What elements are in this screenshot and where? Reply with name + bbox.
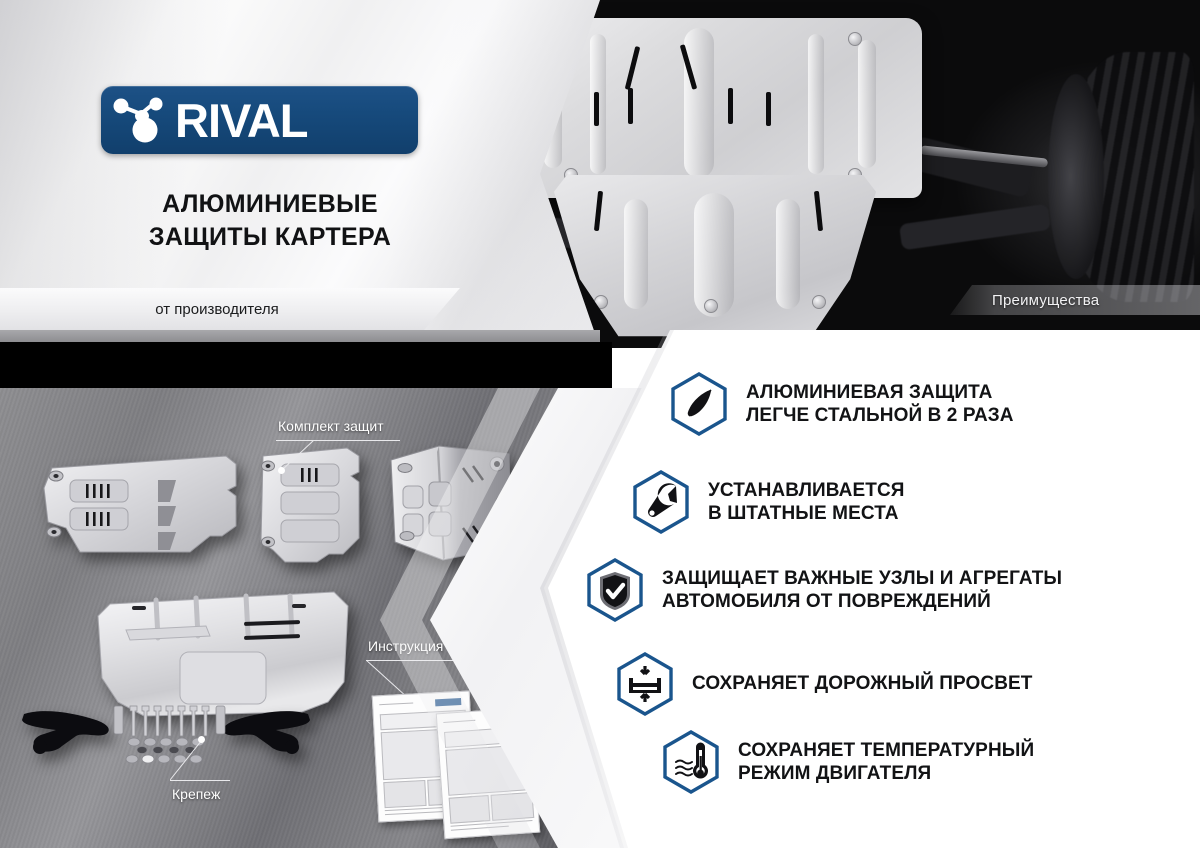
wrench-icon	[632, 470, 690, 534]
advantages-ribbon: Преимущества	[950, 285, 1200, 315]
molecule-icon	[111, 94, 177, 146]
feature-item-3: ЗАЩИЩАЕТ ВАЖНЫЕ УЗЛЫ И АГРЕГАТЫ АВТОМОБИ…	[586, 558, 1062, 622]
feature-item-2: УСТАНАВЛИВАЕТСЯ В ШТАТНЫЕ МЕСТА	[632, 470, 905, 534]
skid-plate-main	[96, 590, 350, 718]
page-title-line1: АЛЮМИНИЕВЫЕ	[60, 188, 480, 221]
feature-text-4: СОХРАНЯЕТ ДОРОЖНЫЙ ПРОСВЕТ	[692, 672, 1033, 695]
feature-text-1: АЛЮМИНИЕВАЯ ЗАЩИТА ЛЕГЧЕ СТАЛЬНОЙ В 2 РА…	[746, 381, 1014, 427]
advantages-ribbon-label: Преимущества	[950, 292, 1099, 309]
mounting-bracket-left	[18, 706, 116, 760]
subtitle-text: от производителя	[155, 301, 304, 318]
feature-text-3: ЗАЩИЩАЕТ ВАЖНЫЕ УЗЛЫ И АГРЕГАТЫ АВТОМОБИ…	[662, 567, 1062, 613]
promo-banner: Преимущества RIVAL АЛЮМИНИЕВЫЕ ЗАЩИТЫ КА…	[0, 0, 1200, 848]
label-kit: Комплект защит	[278, 418, 384, 434]
page-title-line2: ЗАЩИТЫ КАРТЕРА	[60, 221, 480, 254]
skid-plate-lower	[554, 175, 876, 343]
feature-text-2: УСТАНАВЛИВАЕТСЯ В ШТАТНЫЕ МЕСТА	[708, 479, 905, 525]
ground-clearance-icon	[616, 652, 674, 716]
rival-logo-text: RIVAL	[175, 97, 308, 144]
skid-plate-1	[40, 450, 240, 560]
feature-item-1: АЛЮМИНИЕВАЯ ЗАЩИТА ЛЕГЧЕ СТАЛЬНОЙ В 2 РА…	[670, 372, 1014, 436]
subtitle-bar: от производителя	[0, 288, 460, 330]
feature-text-5: СОХРАНЯЕТ ТЕМПЕРАТУРНЫЙ РЕЖИМ ДВИГАТЕЛЯ	[738, 739, 1034, 785]
suspension-arm	[899, 204, 1051, 251]
thermometer-icon	[662, 730, 720, 794]
label-hardware: Крепеж	[172, 786, 220, 802]
rival-logo: RIVAL	[101, 86, 418, 154]
leader-hardware-diagonal	[170, 740, 204, 782]
page-title: АЛЮМИНИЕВЫЕ ЗАЩИТЫ КАРТЕРА	[60, 188, 480, 253]
feature-item-4: СОХРАНЯЕТ ДОРОЖНЫЙ ПРОСВЕТ	[616, 652, 1033, 716]
divider-grey	[0, 330, 600, 342]
feather-icon	[670, 372, 728, 436]
divider-black	[0, 342, 612, 388]
tyre-graphic	[1062, 52, 1194, 302]
leader-hardware-dot	[198, 736, 205, 743]
leader-kit-dot	[278, 467, 285, 474]
shield-check-icon	[586, 558, 644, 622]
feature-item-5: СОХРАНЯЕТ ТЕМПЕРАТУРНЫЙ РЕЖИМ ДВИГАТЕЛЯ	[662, 730, 1034, 794]
